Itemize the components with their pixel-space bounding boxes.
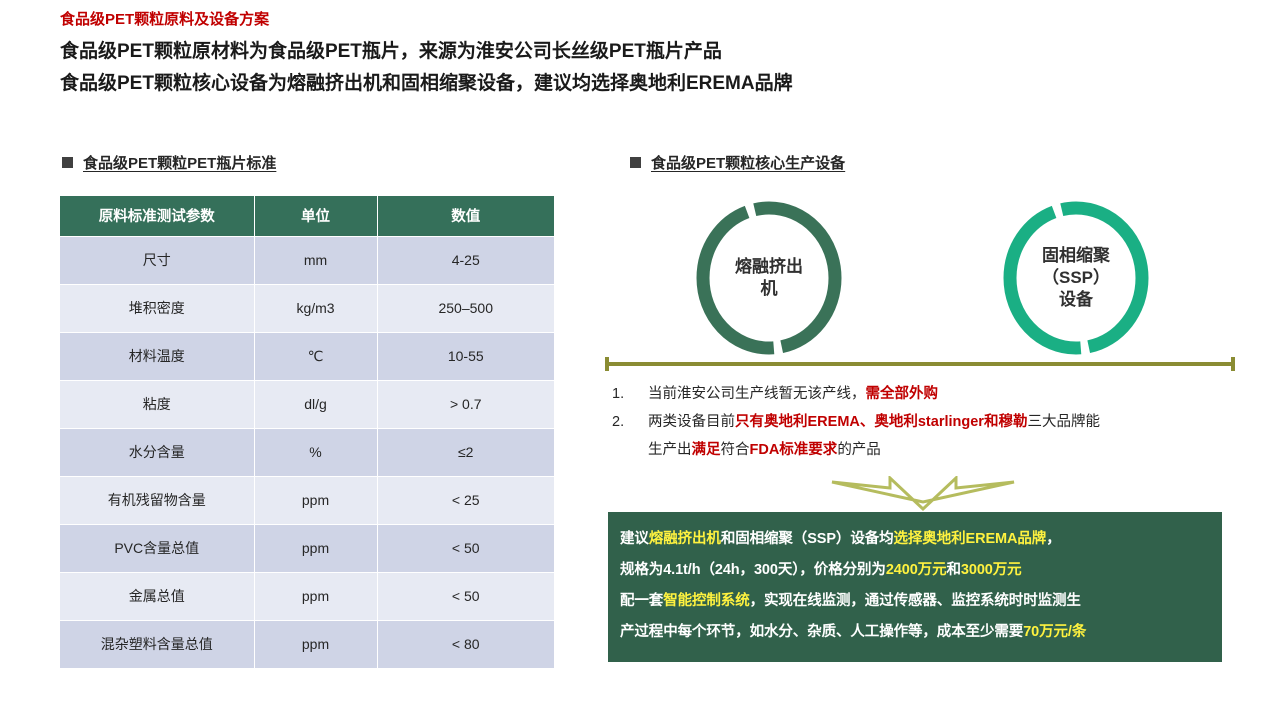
slide-red-heading: 食品级PET颗粒原料及设备方案 <box>60 8 269 29</box>
table-cell-param: 粘度 <box>60 380 254 428</box>
table-cell-unit: ppm <box>254 524 377 572</box>
pet-flake-standard-table: 原料标准测试参数 单位 数值 尺寸mm4-25堆积密度kg/m3250–500材… <box>60 196 554 669</box>
circle-1-label: 熔融挤出机 <box>693 198 845 358</box>
conclusion-plain: ， <box>1046 531 1060 547</box>
table-cell-unit: ℃ <box>254 332 377 380</box>
table-cell-unit: mm <box>254 236 377 284</box>
table-row: 材料温度℃10-55 <box>60 332 554 380</box>
bullet-square-icon <box>62 157 73 168</box>
table-cell-value: > 0.7 <box>377 380 554 428</box>
note-text: 生产出满足符合FDA标准要求的产品 <box>648 436 1242 464</box>
note-plain: 三大品牌能 <box>1027 414 1100 430</box>
note-plain: 当前淮安公司生产线暂无该产线， <box>648 386 866 402</box>
down-arrow-icon <box>828 476 1018 512</box>
note-list-item: 1.当前淮安公司生产线暂无该产线，需全部外购 <box>612 380 1242 408</box>
right-section-heading: 食品级PET颗粒核心生产设备 <box>630 152 845 173</box>
note-text: 两类设备目前只有奥地利EREMA、奥地利starlinger和穆勒三大品牌能 <box>648 408 1242 436</box>
equipment-circle-ssp: 固相缩聚（SSP）设备 <box>1000 198 1152 358</box>
note-plain: 生产出 <box>648 442 692 458</box>
circle-label-line: 固相缩聚 <box>1042 245 1110 267</box>
note-highlight: 需全部外购 <box>866 386 939 402</box>
table-cell-value: 10-55 <box>377 332 554 380</box>
slide-subtitle-line-1: 食品级PET颗粒原材料为食品级PET瓶片，来源为淮安公司长丝级PET瓶片产品 <box>60 36 722 63</box>
conclusion-plain: 配一套 <box>620 593 663 609</box>
table-cell-param: 混杂塑料含量总值 <box>60 620 254 668</box>
table-cell-param: PVC含量总值 <box>60 524 254 572</box>
table-cell-param: 尺寸 <box>60 236 254 284</box>
conclusion-highlight: 2400万元 <box>886 562 947 578</box>
conclusion-plain: ，实现在线监测，通过传感器、监控系统时时监测生 <box>750 593 1081 609</box>
circle-label-line: （SSP） <box>1042 267 1110 289</box>
table-cell-unit: dl/g <box>254 380 377 428</box>
table-cell-value: < 25 <box>377 476 554 524</box>
table-row: 堆积密度kg/m3250–500 <box>60 284 554 332</box>
circle-label-line: 机 <box>761 278 778 300</box>
note-text: 当前淮安公司生产线暂无该产线，需全部外购 <box>648 380 1242 408</box>
table-cell-value: 4-25 <box>377 236 554 284</box>
note-list-item: 生产出满足符合FDA标准要求的产品 <box>612 436 1242 464</box>
conclusion-line: 建议熔融挤出机和固相缩聚（SSP）设备均选择奥地利EREMA品牌， <box>620 524 1212 555</box>
table-cell-value: ≤2 <box>377 428 554 476</box>
conclusion-plain: 和 <box>946 562 960 578</box>
table-cell-param: 材料温度 <box>60 332 254 380</box>
table-cell-param: 金属总值 <box>60 572 254 620</box>
bracket-divider-icon <box>604 356 1236 372</box>
conclusion-highlight: 熔融挤出机 <box>649 531 721 547</box>
note-highlight: 只有奥地利EREMA、奥地利starlinger和穆勒 <box>735 414 1027 430</box>
table-cell-value: < 50 <box>377 572 554 620</box>
table-cell-unit: kg/m3 <box>254 284 377 332</box>
conclusion-plain: 和固相缩聚（SSP）设备均 <box>721 531 894 547</box>
left-section-heading: 食品级PET颗粒PET瓶片标准 <box>62 152 276 173</box>
slide-subtitle-line-2: 食品级PET颗粒核心设备为熔融挤出机和固相缩聚设备，建议均选择奥地利EREMA品… <box>60 68 793 95</box>
circle-2-label: 固相缩聚（SSP）设备 <box>1000 198 1152 358</box>
notes-list: 1.当前淮安公司生产线暂无该产线，需全部外购2.两类设备目前只有奥地利EREMA… <box>612 380 1242 464</box>
note-plain: 两类设备目前 <box>648 414 735 430</box>
table-row: 水分含量%≤2 <box>60 428 554 476</box>
table-cell-param: 水分含量 <box>60 428 254 476</box>
table-row: 金属总值ppm< 50 <box>60 572 554 620</box>
note-highlight: FDA标准要求 <box>750 442 838 458</box>
note-list-item: 2.两类设备目前只有奥地利EREMA、奥地利starlinger和穆勒三大品牌能 <box>612 408 1242 436</box>
right-section-title-label: 食品级PET颗粒核心生产设备 <box>651 152 845 173</box>
table-cell-unit: ppm <box>254 476 377 524</box>
table-cell-value: < 80 <box>377 620 554 668</box>
equipment-circle-melt-extruder: 熔融挤出机 <box>693 198 845 358</box>
conclusion-plain: 规格为4.1t/h（24h，300天），价格分别为 <box>620 562 886 578</box>
note-number: 1. <box>612 380 648 408</box>
circle-label-line: 熔融挤出 <box>735 256 803 278</box>
left-section-title-label: 食品级PET颗粒PET瓶片标准 <box>83 152 276 173</box>
table-header-row: 原料标准测试参数 单位 数值 <box>60 196 554 236</box>
table-cell-value: < 50 <box>377 524 554 572</box>
table-row: PVC含量总值ppm< 50 <box>60 524 554 572</box>
table-row: 尺寸mm4-25 <box>60 236 554 284</box>
conclusion-line: 配一套智能控制系统，实现在线监测，通过传感器、监控系统时时监测生 <box>620 586 1212 617</box>
table-row: 有机残留物含量ppm< 25 <box>60 476 554 524</box>
note-number: 2. <box>612 408 648 436</box>
conclusion-plain: 产过程中每个环节，如水分、杂质、人工操作等，成本至少需要 <box>620 624 1023 640</box>
conclusion-box: 建议熔融挤出机和固相缩聚（SSP）设备均选择奥地利EREMA品牌，规格为4.1t… <box>608 512 1222 662</box>
conclusion-highlight: 70万元/条 <box>1023 624 1086 640</box>
bullet-square-icon <box>630 157 641 168</box>
table-cell-unit: ppm <box>254 572 377 620</box>
table-cell-value: 250–500 <box>377 284 554 332</box>
table-cell-unit: ppm <box>254 620 377 668</box>
note-plain: 符合 <box>721 442 750 458</box>
table-col-header-value: 数值 <box>377 196 554 236</box>
table-col-header-param: 原料标准测试参数 <box>60 196 254 236</box>
table-cell-param: 有机残留物含量 <box>60 476 254 524</box>
table-col-header-unit: 单位 <box>254 196 377 236</box>
table-row: 粘度dl/g> 0.7 <box>60 380 554 428</box>
note-plain: 的产品 <box>837 442 881 458</box>
conclusion-highlight: 智能控制系统 <box>663 593 749 609</box>
table-row: 混杂塑料含量总值ppm< 80 <box>60 620 554 668</box>
conclusion-line: 规格为4.1t/h（24h，300天），价格分别为2400万元和3000万元 <box>620 555 1212 586</box>
conclusion-line: 产过程中每个环节，如水分、杂质、人工操作等，成本至少需要70万元/条 <box>620 617 1212 648</box>
table-cell-param: 堆积密度 <box>60 284 254 332</box>
circle-label-line: 设备 <box>1059 289 1093 311</box>
conclusion-highlight: 选择奥地利EREMA品牌 <box>894 531 1047 547</box>
conclusion-highlight: 3000万元 <box>961 562 1022 578</box>
note-highlight: 满足 <box>692 442 721 458</box>
conclusion-plain: 建议 <box>620 531 649 547</box>
note-number <box>612 436 648 464</box>
slide-canvas: 食品级PET颗粒原料及设备方案 食品级PET颗粒原材料为食品级PET瓶片，来源为… <box>0 0 1280 720</box>
table-cell-unit: % <box>254 428 377 476</box>
